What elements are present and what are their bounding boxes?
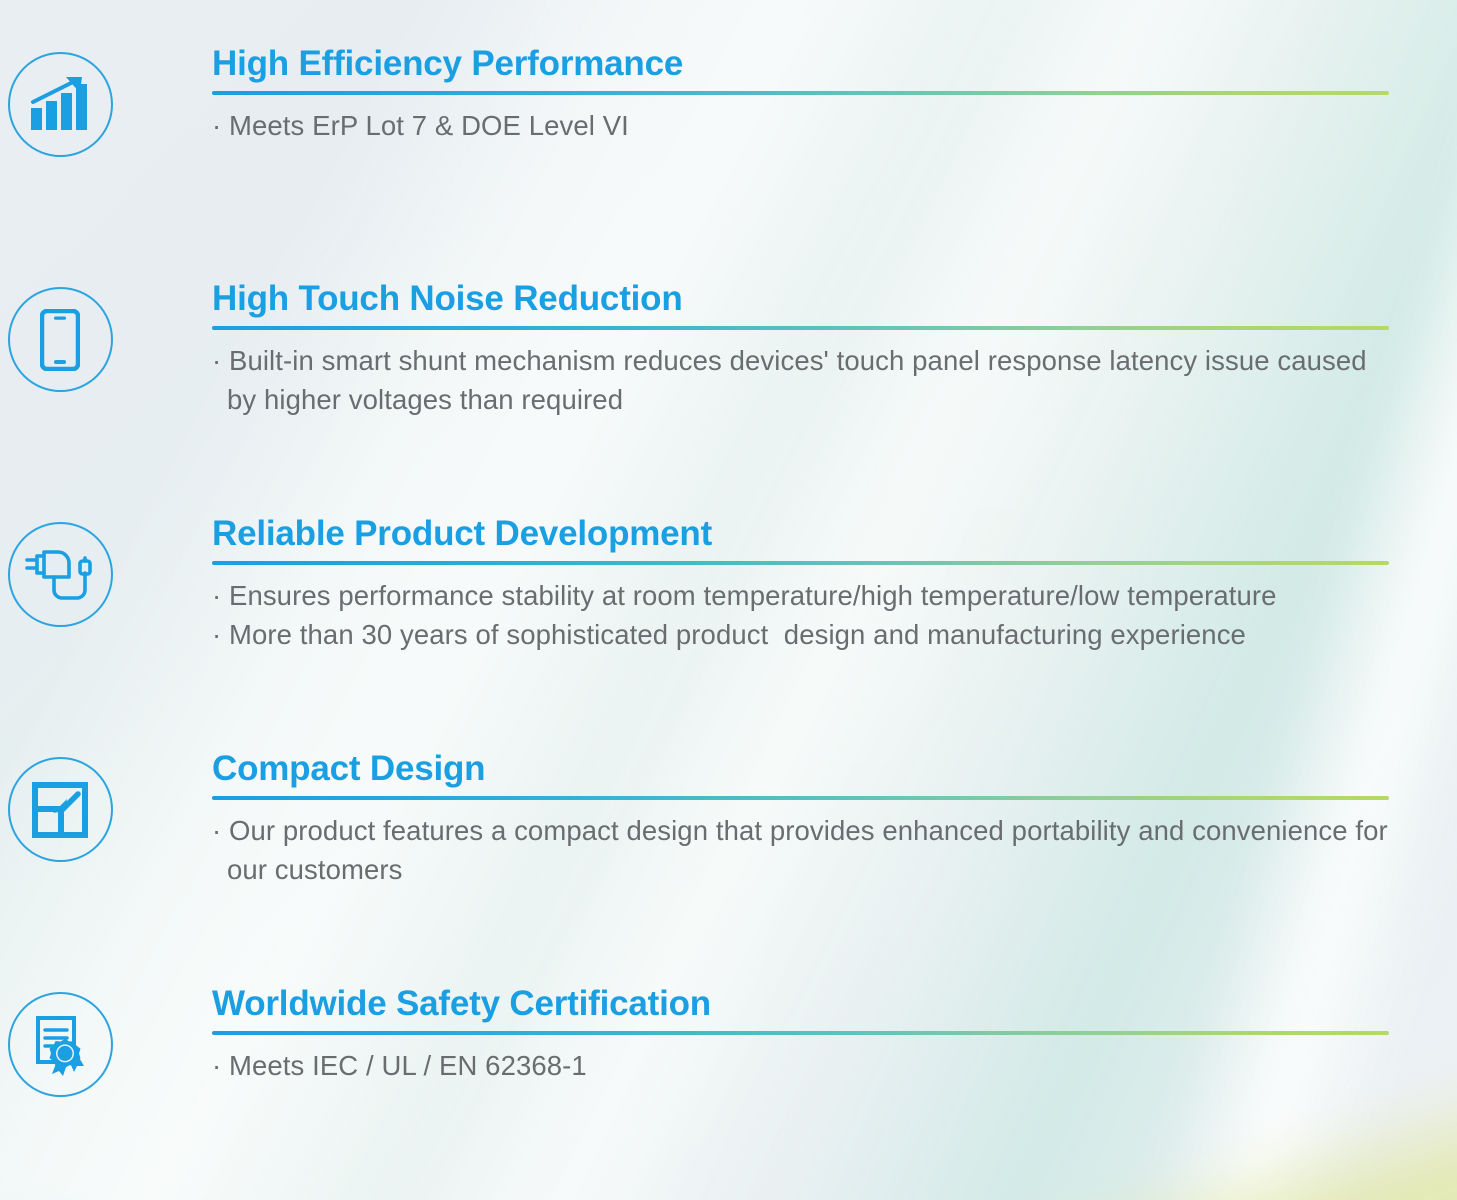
feature-bullet-list: · Meets IEC / UL / EN 62368-1 [212, 1046, 1389, 1086]
feature-bullet: · Meets ErP Lot 7 & DOE Level VI [212, 107, 1389, 146]
feature-item-worldwide-safety-certification: Worldwide Safety Certification · Meets I… [0, 984, 1457, 1097]
feature-bullet: · Our product features a compact design … [212, 812, 1389, 889]
feature-bullet-list: · Built-in smart shunt mechanism reduces… [212, 341, 1389, 419]
feature-text-block: Worldwide Safety Certification · Meets I… [120, 984, 1457, 1086]
bar-chart-growth-icon [8, 52, 113, 157]
feature-divider [212, 796, 1389, 800]
feature-text-block: High Touch Noise Reduction · Built-in sm… [120, 279, 1457, 419]
feature-title: Compact Design [212, 749, 1389, 788]
feature-bullet-list: · Meets ErP Lot 7 & DOE Level VI [212, 106, 1389, 146]
feature-icon-container [0, 279, 120, 392]
feature-divider [212, 326, 1389, 330]
feature-item-compact-design: Compact Design · Our product features a … [0, 749, 1457, 889]
feature-divider [212, 1031, 1389, 1035]
feature-text-block: Compact Design · Our product features a … [120, 749, 1457, 889]
feature-title: High Efficiency Performance [212, 44, 1389, 83]
feature-text-block: Reliable Product Development · Ensures p… [120, 514, 1457, 654]
feature-icon-container [0, 44, 120, 157]
background-blue-swoosh [0, 1164, 795, 1200]
feature-title: Worldwide Safety Certification [212, 984, 1389, 1023]
power-adapter-icon [8, 522, 113, 627]
feature-divider [212, 91, 1389, 95]
feature-text-block: High Efficiency Performance · Meets ErP … [120, 44, 1457, 146]
feature-icon-container [0, 514, 120, 627]
feature-title: Reliable Product Development [212, 514, 1389, 553]
feature-bullet: · Built-in smart shunt mechanism reduces… [212, 342, 1389, 419]
certificate-seal-icon [8, 992, 113, 1097]
feature-bullet-list: · Ensures performance stability at room … [212, 576, 1389, 654]
feature-item-high-touch-noise-reduction: High Touch Noise Reduction · Built-in sm… [0, 279, 1457, 419]
feature-item-reliable-product-development: Reliable Product Development · Ensures p… [0, 514, 1457, 654]
smartphone-icon [8, 287, 113, 392]
feature-title: High Touch Noise Reduction [212, 279, 1389, 318]
feature-highlights-page: High Efficiency Performance · Meets ErP … [0, 0, 1457, 1200]
feature-bullet: · More than 30 years of sophisticated pr… [212, 616, 1389, 655]
compact-resize-icon [8, 757, 113, 862]
feature-bullet: · Meets IEC / UL / EN 62368-1 [212, 1047, 1389, 1086]
feature-divider [212, 561, 1389, 565]
feature-icon-container [0, 984, 120, 1097]
feature-item-high-efficiency-performance: High Efficiency Performance · Meets ErP … [0, 44, 1457, 157]
feature-bullet-list: · Our product features a compact design … [212, 811, 1389, 889]
feature-icon-container [0, 749, 120, 862]
feature-bullet: · Ensures performance stability at room … [212, 577, 1389, 616]
